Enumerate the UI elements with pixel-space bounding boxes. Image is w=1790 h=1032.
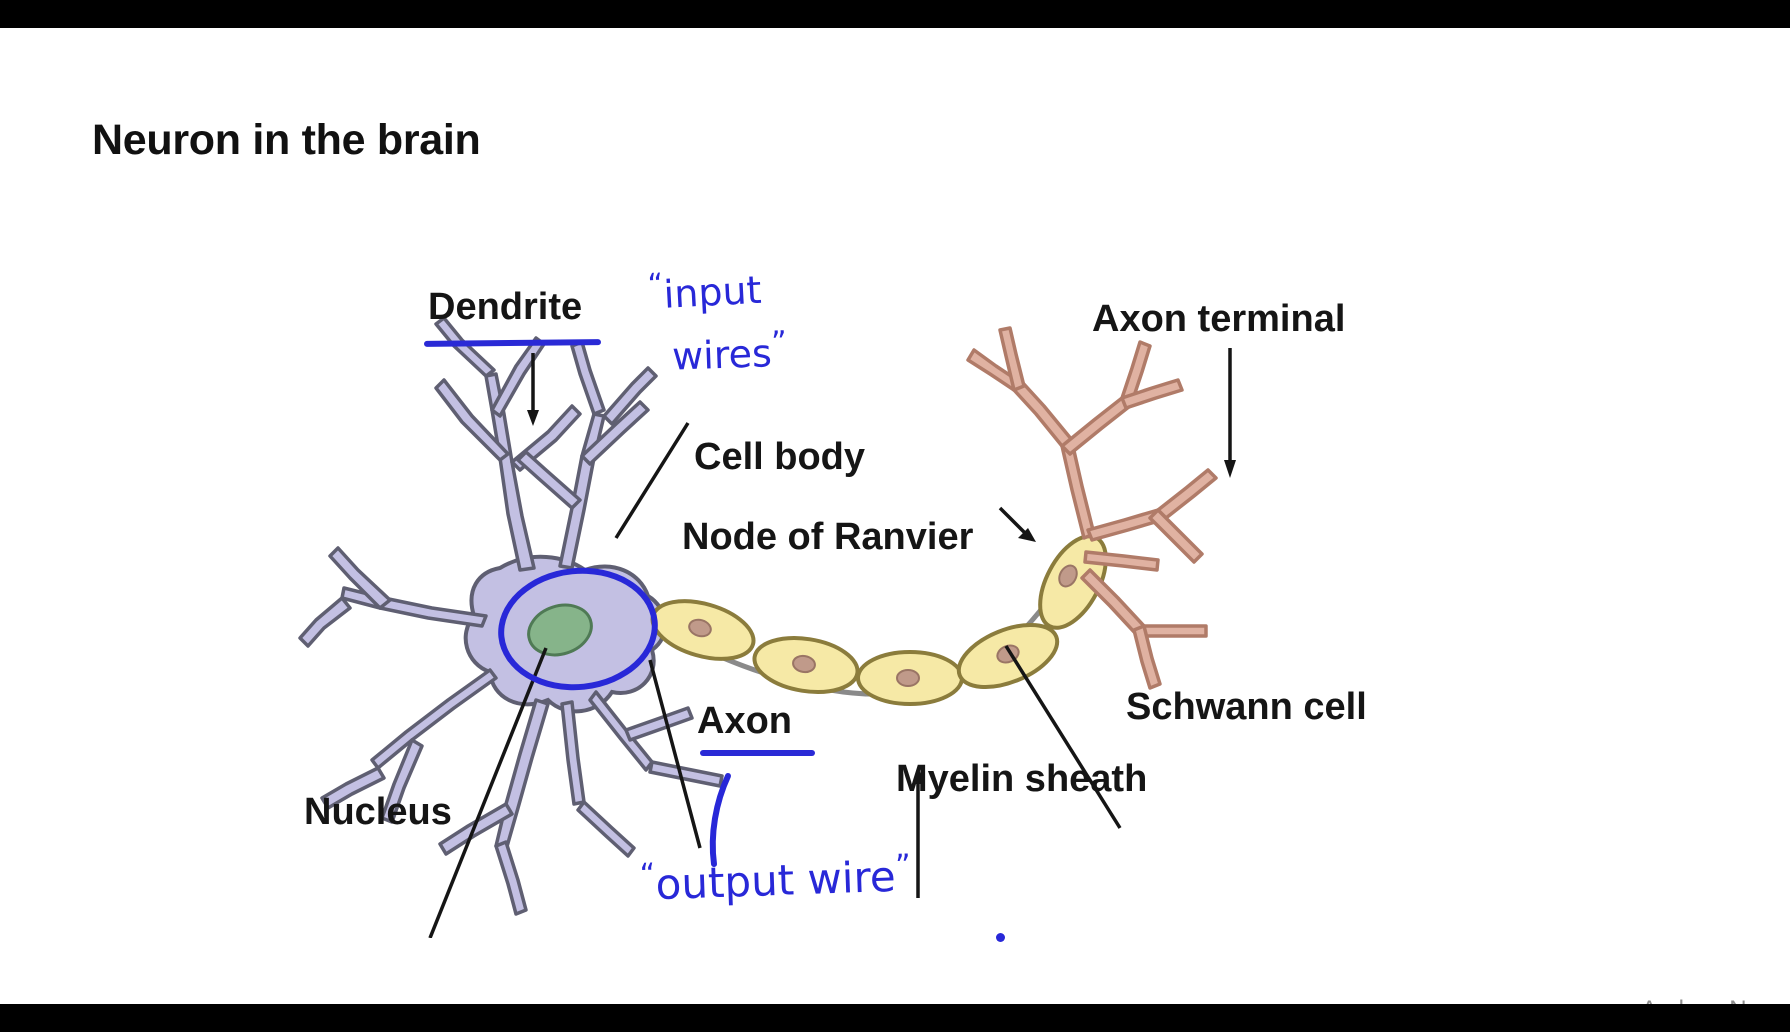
letterbox-top-bar xyxy=(0,0,1790,28)
ink-underline-axon xyxy=(700,750,815,756)
slide-frame: Neuron in the brain xyxy=(0,0,1790,1032)
ink-quote-close-2: ” xyxy=(895,848,912,884)
label-axon-terminal: Axon terminal xyxy=(1092,300,1345,338)
ink-dot xyxy=(996,933,1005,942)
page-title: Neuron in the brain xyxy=(92,116,480,165)
ink-quote-open: “ xyxy=(647,267,664,303)
ink-stroke-axon-connector xyxy=(680,768,800,878)
ink-quote-close: ” xyxy=(771,325,788,361)
label-dendrite: Dendrite xyxy=(428,288,582,326)
leader-schwann xyxy=(1006,646,1120,828)
ink-note-input: “input xyxy=(647,265,762,315)
label-nucleus: Nucleus xyxy=(304,793,452,831)
dendrite-branches-upper xyxy=(436,318,656,570)
label-schwann-cell: Schwann cell xyxy=(1126,688,1367,726)
label-myelin-sheath: Myelin sheath xyxy=(896,760,1147,798)
label-node-of-ranvier: Node of Ranvier xyxy=(682,518,973,556)
neuron-illustration xyxy=(0,178,1790,938)
ink-note-input-text: input xyxy=(663,268,763,317)
ink-note-wires-text: wires xyxy=(671,331,772,378)
label-cell-body: Cell body xyxy=(694,438,865,476)
leader-cell-body xyxy=(616,423,688,538)
ink-quote-open-2: “ xyxy=(639,857,656,893)
label-axon: Axon xyxy=(697,702,792,740)
letterbox-bottom-bar xyxy=(0,1004,1790,1032)
slide-canvas: Neuron in the brain xyxy=(0,28,1790,1004)
neuron-anatomy-diagram xyxy=(0,178,1790,938)
ink-note-wires: wires” xyxy=(671,328,788,376)
leader-node-ranvier xyxy=(1000,508,1026,534)
